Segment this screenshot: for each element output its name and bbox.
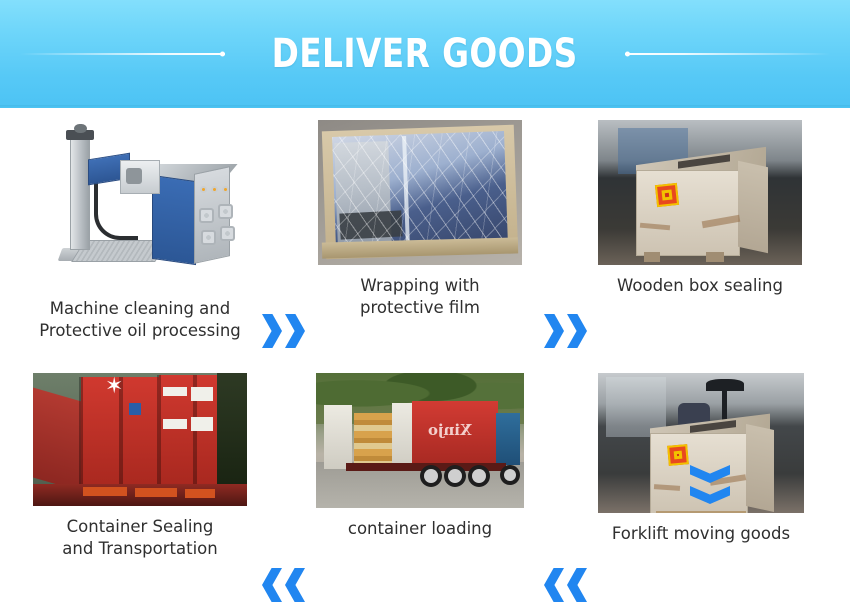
underframe-mark-3 <box>185 489 215 498</box>
pallet-board <box>656 511 746 513</box>
title-rule-right <box>625 49 830 59</box>
chevron-left-1 <box>544 568 564 602</box>
door-sticker-1 <box>163 387 187 396</box>
door-sticker-2 <box>191 387 213 401</box>
step-photo-wooden-box-sealing <box>598 120 802 265</box>
double-chevron-left-icon <box>262 568 305 602</box>
machine-lens <box>126 168 142 184</box>
container-star-marking: ✶ <box>105 375 123 397</box>
cabinet-vent-4 <box>220 226 235 241</box>
truck-cab <box>496 413 520 465</box>
double-chevron-right-icon <box>262 314 305 348</box>
rule-dot-left <box>220 52 225 57</box>
truck-wheel <box>500 465 520 485</box>
container-open-door <box>324 405 352 469</box>
step-caption: Container Sealing and Transportation <box>62 516 217 560</box>
machine-column <box>70 138 90 250</box>
hazard-label-core <box>665 193 669 197</box>
trailer-wheel-2 <box>444 465 466 487</box>
underframe-mark-1 <box>83 487 127 496</box>
chevron-right-2 <box>285 314 305 348</box>
cabinet-indicator-3 <box>222 186 229 193</box>
box-foot-2 <box>706 252 724 262</box>
step-photo-container-loading: Xinjo <box>316 373 524 508</box>
box-side-face <box>746 424 774 512</box>
chevron-down-1 <box>690 465 730 483</box>
box-front-face <box>636 170 740 256</box>
rule-line-right <box>625 53 830 55</box>
container-branding: Xinjo <box>428 421 472 439</box>
hazard-label <box>667 444 689 466</box>
step-card-wooden-box-sealing: Wooden box sealing <box>598 120 802 297</box>
underframe-mark-2 <box>135 488 177 497</box>
chevron-down-2 <box>690 486 730 504</box>
step-photo-machine-cleaning <box>22 120 258 288</box>
step-caption: container loading <box>348 518 492 540</box>
door-rib-1 <box>79 377 83 489</box>
step-caption: Wooden box sealing <box>617 275 783 297</box>
trailer-wheel-3 <box>468 465 490 487</box>
cabinet-vent-3 <box>201 230 216 245</box>
page-title: DELIVER GOODS <box>261 34 588 74</box>
page-header-banner: DELIVER GOODS <box>0 0 850 108</box>
rule-line-left <box>20 53 225 55</box>
steps-grid: Machine cleaning and Protective oil proc… <box>0 108 850 604</box>
cabinet-vent-2 <box>218 204 233 219</box>
double-chevron-left-icon <box>544 568 587 602</box>
cabinet-indicator-2 <box>211 186 218 193</box>
cabinet-vent-1 <box>199 208 214 223</box>
step-photo-container-sealing: ✶ <box>33 373 247 506</box>
step-caption: Forklift moving goods <box>612 523 790 545</box>
hazard-label-inner <box>674 451 683 460</box>
step-card-machine-cleaning: Machine cleaning and Protective oil proc… <box>22 120 258 342</box>
title-rule-left <box>20 49 225 59</box>
banner-content: DELIVER GOODS <box>0 34 850 74</box>
step-card-container-loading: Xinjo container loading <box>316 373 524 540</box>
loaded-cargo <box>354 413 392 467</box>
box-foot-1 <box>644 252 660 262</box>
hazard-label-inner <box>662 190 673 201</box>
step-card-wrapping-film: Wrapping with protective film <box>318 120 522 319</box>
container-side-wall <box>33 388 85 493</box>
step-photo-wrapping-film <box>318 120 522 265</box>
container-door-panel <box>392 403 414 469</box>
chevron-right-2 <box>567 314 587 348</box>
step-caption: Machine cleaning and Protective oil proc… <box>39 298 241 342</box>
chevron-left-1 <box>262 568 282 602</box>
chevron-right-1 <box>544 314 564 348</box>
box-side-face <box>738 161 768 253</box>
step-card-forklift-moving: Forklift moving goods <box>598 373 804 545</box>
hazard-label <box>655 183 679 207</box>
step-card-container-sealing: ✶ Container Sealing and Transportation <box>22 373 258 560</box>
door-sticker-3 <box>163 419 187 429</box>
double-chevron-right-icon <box>544 314 587 348</box>
cabinet-indicator-1 <box>200 186 207 193</box>
door-sticker-4 <box>191 417 213 431</box>
chevron-left-2 <box>567 568 587 602</box>
trailer-wheel-1 <box>420 465 442 487</box>
machine-adjust-knob <box>74 124 87 133</box>
protective-film-wrap <box>332 131 508 249</box>
chevron-left-2 <box>285 568 305 602</box>
hazard-label-core <box>677 454 679 456</box>
door-rib-3 <box>157 375 161 487</box>
deliver-goods-infographic: DELIVER GOODS <box>0 0 850 604</box>
step-caption: Wrapping with protective film <box>360 275 480 319</box>
double-chevron-down-icon <box>690 465 730 504</box>
chevron-right-1 <box>262 314 282 348</box>
pallet-jack-handle-grip <box>706 379 744 391</box>
customs-seal <box>129 403 141 415</box>
